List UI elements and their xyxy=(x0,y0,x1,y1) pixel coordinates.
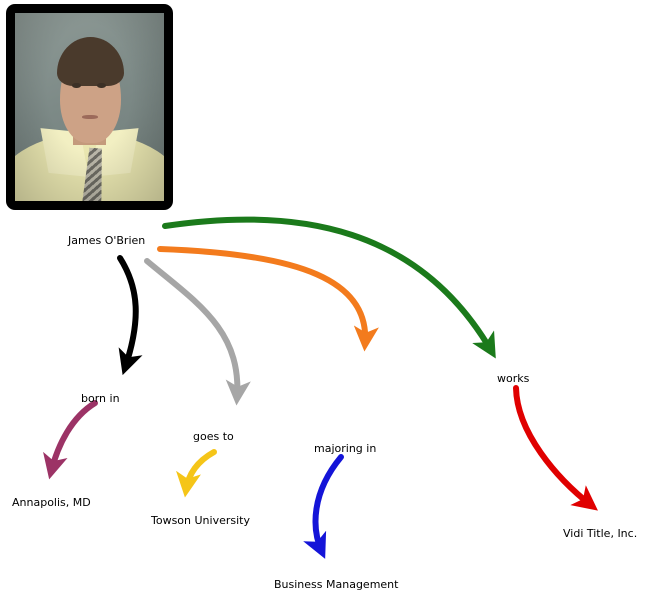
node-business-management[interactable]: Business Management xyxy=(274,578,398,591)
edge-born-in-to-annapolis xyxy=(51,403,95,472)
edge-james-to-works xyxy=(165,220,492,352)
edge-works-to-vidi xyxy=(516,388,592,506)
node-works[interactable]: works xyxy=(497,372,529,385)
node-towson-university[interactable]: Towson University xyxy=(151,514,250,527)
node-goes-to[interactable]: goes to xyxy=(193,430,234,443)
node-james-obrien[interactable]: James O'Brien xyxy=(68,234,145,247)
node-born-in[interactable]: born in xyxy=(81,392,120,405)
edges-layer xyxy=(0,0,662,606)
edge-james-to-goes-to xyxy=(147,261,237,398)
edge-goes-to-to-towson xyxy=(186,452,214,490)
diagram-canvas: James O'Brien born in goes to majoring i… xyxy=(0,0,662,606)
node-vidi-title-inc[interactable]: Vidi Title, Inc. xyxy=(563,527,637,540)
edge-james-to-born-in xyxy=(120,258,136,368)
node-majoring-in[interactable]: majoring in xyxy=(314,442,376,455)
node-annapolis-md[interactable]: Annapolis, MD xyxy=(12,496,91,509)
edge-majoring-in-to-business xyxy=(316,457,341,552)
